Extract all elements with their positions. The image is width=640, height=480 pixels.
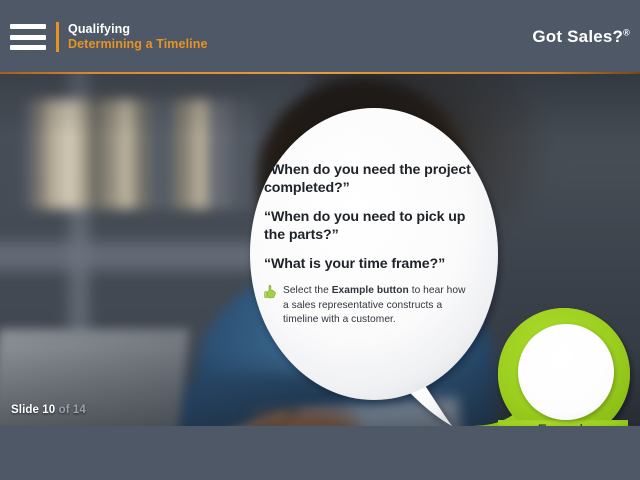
slide-total: of 14 (59, 404, 86, 416)
question-1: “When do you need the project completed?… (264, 162, 474, 198)
hamburger-bar-3 (10, 45, 46, 50)
brand-logo: Got Sales?® (532, 27, 630, 47)
pointing-hand-icon (264, 285, 277, 299)
registered-mark: ® (623, 27, 630, 37)
footer-bar (0, 426, 640, 480)
instruction-block: Select the Example button to hear how a … (264, 284, 474, 327)
instruction-text: Select the Example button to hear how a … (283, 284, 474, 327)
instruction-emphasis: Example button (332, 285, 409, 296)
speech-bubble-content: “When do you need the project completed?… (264, 162, 474, 328)
slide-stage: Qualifying Determining a Timeline Got Sa… (0, 0, 640, 480)
instruction-prefix: Select the (283, 285, 332, 296)
header-titles: Qualifying Determining a Timeline (68, 22, 208, 52)
module-title: Qualifying (68, 22, 208, 37)
slide-content: Example (0, 74, 640, 426)
question-2: “When do you need to pick up the parts?” (264, 209, 474, 245)
question-3: “What is your time frame?” (264, 256, 474, 274)
lesson-subtitle: Determining a Timeline (68, 37, 208, 52)
title-divider (56, 22, 59, 52)
hamburger-menu-icon[interactable] (10, 24, 46, 50)
brand-text: Got Sales? (532, 27, 623, 46)
slide-counter: Slide 10 of 14 (11, 404, 86, 416)
slide-current: Slide 10 (11, 404, 55, 416)
hamburger-bar-2 (10, 35, 46, 40)
app-header: Qualifying Determining a Timeline Got Sa… (0, 0, 640, 74)
hamburger-bar-1 (10, 24, 46, 29)
